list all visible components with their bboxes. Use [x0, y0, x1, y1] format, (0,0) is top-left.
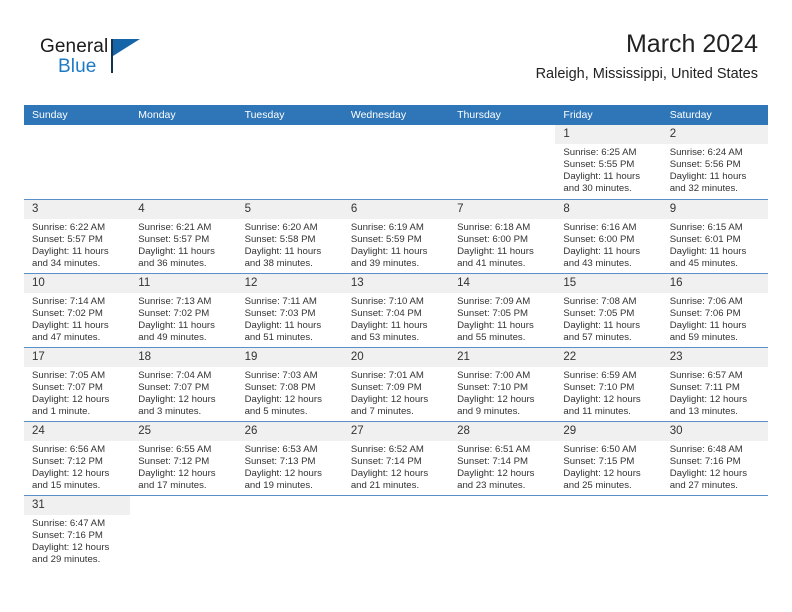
- sunrise-time: Sunrise: 7:10 AM: [351, 296, 445, 308]
- day-number: 16: [662, 274, 768, 293]
- calendar-day-cell[interactable]: 18Sunrise: 7:04 AMSunset: 7:07 PMDayligh…: [130, 347, 236, 421]
- day-cell-content: 22Sunrise: 6:59 AMSunset: 7:10 PMDayligh…: [555, 348, 661, 421]
- calendar-day-cell[interactable]: 16Sunrise: 7:06 AMSunset: 7:06 PMDayligh…: [662, 273, 768, 347]
- day-cell-content: 29Sunrise: 6:50 AMSunset: 7:15 PMDayligh…: [555, 422, 661, 495]
- daylight-duration-line1: Daylight: 11 hours: [351, 246, 445, 258]
- day-number: [555, 496, 661, 515]
- weekday-header-saturday: Saturday: [662, 105, 768, 125]
- sunset-time: Sunset: 5:57 PM: [32, 234, 126, 246]
- calendar-day-cell[interactable]: 8Sunrise: 6:16 AMSunset: 6:00 PMDaylight…: [555, 199, 661, 273]
- sunset-time: Sunset: 7:02 PM: [32, 308, 126, 320]
- day-cell-content: 16Sunrise: 7:06 AMSunset: 7:06 PMDayligh…: [662, 274, 768, 347]
- day-number: 20: [343, 348, 449, 367]
- daylight-duration-line2: and 3 minutes.: [138, 406, 232, 418]
- day-cell-content: 15Sunrise: 7:08 AMSunset: 7:05 PMDayligh…: [555, 274, 661, 347]
- daylight-duration-line2: and 5 minutes.: [245, 406, 339, 418]
- day-sun-info: Sunrise: 6:25 AMSunset: 5:55 PMDaylight:…: [555, 144, 661, 195]
- day-cell-content: [555, 496, 661, 570]
- sunset-time: Sunset: 7:03 PM: [245, 308, 339, 320]
- day-cell-content: [130, 496, 236, 570]
- calendar-day-cell[interactable]: 9Sunrise: 6:15 AMSunset: 6:01 PMDaylight…: [662, 199, 768, 273]
- day-cell-content: 28Sunrise: 6:51 AMSunset: 7:14 PMDayligh…: [449, 422, 555, 495]
- day-cell-content: 6Sunrise: 6:19 AMSunset: 5:59 PMDaylight…: [343, 200, 449, 273]
- daylight-duration-line2: and 29 minutes.: [32, 554, 126, 566]
- weekday-header-tuesday: Tuesday: [237, 105, 343, 125]
- day-cell-content: 24Sunrise: 6:56 AMSunset: 7:12 PMDayligh…: [24, 422, 130, 495]
- daylight-duration-line1: Daylight: 11 hours: [245, 246, 339, 258]
- calendar-day-cell[interactable]: 23Sunrise: 6:57 AMSunset: 7:11 PMDayligh…: [662, 347, 768, 421]
- day-sun-info: Sunrise: 7:08 AMSunset: 7:05 PMDaylight:…: [555, 293, 661, 344]
- day-cell-content: 4Sunrise: 6:21 AMSunset: 5:57 PMDaylight…: [130, 200, 236, 273]
- day-cell-content: [662, 496, 768, 570]
- day-number: [449, 125, 555, 144]
- sunrise-time: Sunrise: 7:08 AM: [563, 296, 657, 308]
- day-sun-info: Sunrise: 7:00 AMSunset: 7:10 PMDaylight:…: [449, 367, 555, 418]
- day-cell-content: 27Sunrise: 6:52 AMSunset: 7:14 PMDayligh…: [343, 422, 449, 495]
- day-number: 13: [343, 274, 449, 293]
- calendar-day-cell[interactable]: 14Sunrise: 7:09 AMSunset: 7:05 PMDayligh…: [449, 273, 555, 347]
- daylight-duration-line1: Daylight: 12 hours: [245, 394, 339, 406]
- day-number: 5: [237, 200, 343, 219]
- daylight-duration-line2: and 13 minutes.: [670, 406, 764, 418]
- calendar-day-cell: [24, 125, 130, 199]
- day-sun-info: Sunrise: 6:50 AMSunset: 7:15 PMDaylight:…: [555, 441, 661, 492]
- day-number: 29: [555, 422, 661, 441]
- daylight-duration-line1: Daylight: 11 hours: [32, 246, 126, 258]
- sunset-time: Sunset: 7:05 PM: [457, 308, 551, 320]
- sunset-time: Sunset: 7:10 PM: [563, 382, 657, 394]
- sunset-time: Sunset: 6:00 PM: [457, 234, 551, 246]
- daylight-duration-line1: Daylight: 11 hours: [32, 320, 126, 332]
- daylight-duration-line1: Daylight: 12 hours: [351, 394, 445, 406]
- sunrise-time: Sunrise: 7:13 AM: [138, 296, 232, 308]
- calendar-day-cell[interactable]: 20Sunrise: 7:01 AMSunset: 7:09 PMDayligh…: [343, 347, 449, 421]
- calendar-day-cell[interactable]: 30Sunrise: 6:48 AMSunset: 7:16 PMDayligh…: [662, 421, 768, 495]
- weekday-header-wednesday: Wednesday: [343, 105, 449, 125]
- day-number: 15: [555, 274, 661, 293]
- day-number: 17: [24, 348, 130, 367]
- calendar-week-row: 3Sunrise: 6:22 AMSunset: 5:57 PMDaylight…: [24, 199, 768, 273]
- weekday-header-monday: Monday: [130, 105, 236, 125]
- day-sun-info: Sunrise: 6:53 AMSunset: 7:13 PMDaylight:…: [237, 441, 343, 492]
- day-cell-content: 31Sunrise: 6:47 AMSunset: 7:16 PMDayligh…: [24, 496, 130, 570]
- day-number: 31: [24, 496, 130, 515]
- calendar-day-cell[interactable]: 27Sunrise: 6:52 AMSunset: 7:14 PMDayligh…: [343, 421, 449, 495]
- day-cell-content: 1Sunrise: 6:25 AMSunset: 5:55 PMDaylight…: [555, 125, 661, 199]
- daylight-duration-line1: Daylight: 12 hours: [457, 468, 551, 480]
- daylight-duration-line2: and 23 minutes.: [457, 480, 551, 492]
- sunset-time: Sunset: 7:12 PM: [32, 456, 126, 468]
- title-block: March 2024 Raleigh, Mississippi, United …: [536, 28, 758, 85]
- daylight-duration-line1: Daylight: 11 hours: [351, 320, 445, 332]
- daylight-duration-line1: Daylight: 12 hours: [563, 468, 657, 480]
- sunrise-time: Sunrise: 6:22 AM: [32, 222, 126, 234]
- day-cell-content: [130, 125, 236, 199]
- day-sun-info: Sunrise: 6:57 AMSunset: 7:11 PMDaylight:…: [662, 367, 768, 418]
- daylight-duration-line1: Daylight: 11 hours: [457, 320, 551, 332]
- sunrise-time: Sunrise: 6:20 AM: [245, 222, 339, 234]
- day-number: [449, 496, 555, 515]
- day-number: [130, 496, 236, 515]
- day-sun-info: Sunrise: 6:51 AMSunset: 7:14 PMDaylight:…: [449, 441, 555, 492]
- day-cell-content: 9Sunrise: 6:15 AMSunset: 6:01 PMDaylight…: [662, 200, 768, 273]
- daylight-duration-line1: Daylight: 11 hours: [670, 171, 764, 183]
- daylight-duration-line1: Daylight: 12 hours: [138, 468, 232, 480]
- day-sun-info: Sunrise: 6:55 AMSunset: 7:12 PMDaylight:…: [130, 441, 236, 492]
- day-number: 25: [130, 422, 236, 441]
- daylight-duration-line2: and 41 minutes.: [457, 258, 551, 270]
- sunrise-time: Sunrise: 6:52 AM: [351, 444, 445, 456]
- day-number: 21: [449, 348, 555, 367]
- day-number: 8: [555, 200, 661, 219]
- calendar-day-cell: [130, 125, 236, 199]
- daylight-duration-line2: and 25 minutes.: [563, 480, 657, 492]
- calendar-day-cell[interactable]: 29Sunrise: 6:50 AMSunset: 7:15 PMDayligh…: [555, 421, 661, 495]
- daylight-duration-line2: and 45 minutes.: [670, 258, 764, 270]
- calendar-day-cell: [130, 495, 236, 569]
- calendar-day-cell[interactable]: 17Sunrise: 7:05 AMSunset: 7:07 PMDayligh…: [24, 347, 130, 421]
- day-cell-content: [24, 125, 130, 199]
- brand-name-blue: Blue: [58, 56, 96, 78]
- day-number: 3: [24, 200, 130, 219]
- day-sun-info: Sunrise: 6:52 AMSunset: 7:14 PMDaylight:…: [343, 441, 449, 492]
- calendar-day-cell[interactable]: 19Sunrise: 7:03 AMSunset: 7:08 PMDayligh…: [237, 347, 343, 421]
- day-number: 14: [449, 274, 555, 293]
- day-number: [662, 496, 768, 515]
- day-sun-info: Sunrise: 6:48 AMSunset: 7:16 PMDaylight:…: [662, 441, 768, 492]
- calendar-week-row: 17Sunrise: 7:05 AMSunset: 7:07 PMDayligh…: [24, 347, 768, 421]
- day-cell-content: 3Sunrise: 6:22 AMSunset: 5:57 PMDaylight…: [24, 200, 130, 273]
- calendar-day-cell: [449, 495, 555, 569]
- sunset-time: Sunset: 7:07 PM: [32, 382, 126, 394]
- sunrise-time: Sunrise: 6:25 AM: [563, 147, 657, 159]
- calendar-day-cell[interactable]: 13Sunrise: 7:10 AMSunset: 7:04 PMDayligh…: [343, 273, 449, 347]
- day-cell-content: 17Sunrise: 7:05 AMSunset: 7:07 PMDayligh…: [24, 348, 130, 421]
- sunset-time: Sunset: 5:59 PM: [351, 234, 445, 246]
- day-number: 27: [343, 422, 449, 441]
- day-sun-info: Sunrise: 7:03 AMSunset: 7:08 PMDaylight:…: [237, 367, 343, 418]
- weekday-header-sunday: Sunday: [24, 105, 130, 125]
- sunrise-time: Sunrise: 7:04 AM: [138, 370, 232, 382]
- calendar-day-cell: [237, 495, 343, 569]
- daylight-duration-line2: and 38 minutes.: [245, 258, 339, 270]
- day-cell-content: 11Sunrise: 7:13 AMSunset: 7:02 PMDayligh…: [130, 274, 236, 347]
- sunrise-time: Sunrise: 7:11 AM: [245, 296, 339, 308]
- brand-logo[interactable]: General Blue: [40, 36, 170, 88]
- day-sun-info: Sunrise: 7:10 AMSunset: 7:04 PMDaylight:…: [343, 293, 449, 344]
- sunrise-time: Sunrise: 7:00 AM: [457, 370, 551, 382]
- sunrise-time: Sunrise: 7:06 AM: [670, 296, 764, 308]
- day-number: 4: [130, 200, 236, 219]
- daylight-duration-line2: and 21 minutes.: [351, 480, 445, 492]
- sunset-time: Sunset: 7:08 PM: [245, 382, 339, 394]
- day-sun-info: Sunrise: 6:47 AMSunset: 7:16 PMDaylight:…: [24, 515, 130, 566]
- day-cell-content: 12Sunrise: 7:11 AMSunset: 7:03 PMDayligh…: [237, 274, 343, 347]
- day-cell-content: [449, 496, 555, 570]
- calendar-week-row: 10Sunrise: 7:14 AMSunset: 7:02 PMDayligh…: [24, 273, 768, 347]
- daylight-duration-line1: Daylight: 11 hours: [138, 246, 232, 258]
- sunrise-time: Sunrise: 6:18 AM: [457, 222, 551, 234]
- sunset-time: Sunset: 7:14 PM: [457, 456, 551, 468]
- sunrise-time: Sunrise: 6:50 AM: [563, 444, 657, 456]
- daylight-duration-line1: Daylight: 12 hours: [563, 394, 657, 406]
- daylight-duration-line2: and 47 minutes.: [32, 332, 126, 344]
- daylight-duration-line1: Daylight: 12 hours: [457, 394, 551, 406]
- day-number: 19: [237, 348, 343, 367]
- daylight-duration-line1: Daylight: 11 hours: [138, 320, 232, 332]
- daylight-duration-line2: and 9 minutes.: [457, 406, 551, 418]
- daylight-duration-line2: and 17 minutes.: [138, 480, 232, 492]
- sunset-time: Sunset: 7:16 PM: [32, 530, 126, 542]
- daylight-duration-line2: and 59 minutes.: [670, 332, 764, 344]
- calendar-day-cell[interactable]: 26Sunrise: 6:53 AMSunset: 7:13 PMDayligh…: [237, 421, 343, 495]
- sunrise-sunset-calendar: Sunday Monday Tuesday Wednesday Thursday…: [24, 105, 768, 569]
- location-subtitle: Raleigh, Mississippi, United States: [536, 63, 758, 85]
- day-sun-info: Sunrise: 7:11 AMSunset: 7:03 PMDaylight:…: [237, 293, 343, 344]
- day-sun-info: Sunrise: 6:15 AMSunset: 6:01 PMDaylight:…: [662, 219, 768, 270]
- day-sun-info: Sunrise: 6:16 AMSunset: 6:00 PMDaylight:…: [555, 219, 661, 270]
- sunset-time: Sunset: 5:58 PM: [245, 234, 339, 246]
- sunrise-time: Sunrise: 6:56 AM: [32, 444, 126, 456]
- calendar-day-cell: [343, 125, 449, 199]
- daylight-duration-line1: Daylight: 11 hours: [670, 320, 764, 332]
- sunset-time: Sunset: 7:15 PM: [563, 456, 657, 468]
- calendar-day-cell: [555, 495, 661, 569]
- daylight-duration-line2: and 27 minutes.: [670, 480, 764, 492]
- calendar-day-cell[interactable]: 24Sunrise: 6:56 AMSunset: 7:12 PMDayligh…: [24, 421, 130, 495]
- calendar-day-cell: [662, 495, 768, 569]
- sunset-time: Sunset: 7:09 PM: [351, 382, 445, 394]
- day-cell-content: 5Sunrise: 6:20 AMSunset: 5:58 PMDaylight…: [237, 200, 343, 273]
- calendar-week-row: 24Sunrise: 6:56 AMSunset: 7:12 PMDayligh…: [24, 421, 768, 495]
- calendar-day-cell[interactable]: 6Sunrise: 6:19 AMSunset: 5:59 PMDaylight…: [343, 199, 449, 273]
- sunrise-time: Sunrise: 6:51 AM: [457, 444, 551, 456]
- day-cell-content: 25Sunrise: 6:55 AMSunset: 7:12 PMDayligh…: [130, 422, 236, 495]
- day-number: 7: [449, 200, 555, 219]
- blue-flag-icon: [113, 39, 140, 56]
- calendar-day-cell: [343, 495, 449, 569]
- daylight-duration-line2: and 1 minute.: [32, 406, 126, 418]
- daylight-duration-line1: Daylight: 12 hours: [351, 468, 445, 480]
- calendar-day-cell: [449, 125, 555, 199]
- day-cell-content: 23Sunrise: 6:57 AMSunset: 7:11 PMDayligh…: [662, 348, 768, 421]
- day-cell-content: [237, 125, 343, 199]
- daylight-duration-line2: and 53 minutes.: [351, 332, 445, 344]
- calendar-day-cell[interactable]: 2Sunrise: 6:24 AMSunset: 5:56 PMDaylight…: [662, 125, 768, 199]
- day-number: 28: [449, 422, 555, 441]
- calendar-day-cell[interactable]: 10Sunrise: 7:14 AMSunset: 7:02 PMDayligh…: [24, 273, 130, 347]
- day-number: 1: [555, 125, 661, 144]
- day-cell-content: [449, 125, 555, 199]
- daylight-duration-line2: and 55 minutes.: [457, 332, 551, 344]
- day-number: 22: [555, 348, 661, 367]
- day-cell-content: [343, 496, 449, 570]
- day-number: [343, 125, 449, 144]
- daylight-duration-line2: and 43 minutes.: [563, 258, 657, 270]
- day-sun-info: Sunrise: 7:06 AMSunset: 7:06 PMDaylight:…: [662, 293, 768, 344]
- calendar-day-cell[interactable]: 5Sunrise: 6:20 AMSunset: 5:58 PMDaylight…: [237, 199, 343, 273]
- calendar-day-cell[interactable]: 15Sunrise: 7:08 AMSunset: 7:05 PMDayligh…: [555, 273, 661, 347]
- day-sun-info: Sunrise: 6:56 AMSunset: 7:12 PMDaylight:…: [24, 441, 130, 492]
- sunrise-time: Sunrise: 6:47 AM: [32, 518, 126, 530]
- calendar-header-row: Sunday Monday Tuesday Wednesday Thursday…: [24, 105, 768, 125]
- day-sun-info: Sunrise: 6:19 AMSunset: 5:59 PMDaylight:…: [343, 219, 449, 270]
- daylight-duration-line1: Daylight: 11 hours: [245, 320, 339, 332]
- sunset-time: Sunset: 5:57 PM: [138, 234, 232, 246]
- daylight-duration-line1: Daylight: 12 hours: [32, 394, 126, 406]
- sunset-time: Sunset: 5:55 PM: [563, 159, 657, 171]
- day-number: 6: [343, 200, 449, 219]
- sunrise-time: Sunrise: 6:48 AM: [670, 444, 764, 456]
- calendar-day-cell[interactable]: 1Sunrise: 6:25 AMSunset: 5:55 PMDaylight…: [555, 125, 661, 199]
- day-number: 18: [130, 348, 236, 367]
- sunrise-time: Sunrise: 6:16 AM: [563, 222, 657, 234]
- day-number: 11: [130, 274, 236, 293]
- day-sun-info: Sunrise: 6:21 AMSunset: 5:57 PMDaylight:…: [130, 219, 236, 270]
- day-cell-content: 19Sunrise: 7:03 AMSunset: 7:08 PMDayligh…: [237, 348, 343, 421]
- daylight-duration-line1: Daylight: 11 hours: [457, 246, 551, 258]
- calendar-page: General Blue March 2024 Raleigh, Mississ…: [0, 0, 792, 612]
- day-number: [130, 125, 236, 144]
- weekday-header-thursday: Thursday: [449, 105, 555, 125]
- daylight-duration-line1: Daylight: 11 hours: [563, 246, 657, 258]
- day-cell-content: 13Sunrise: 7:10 AMSunset: 7:04 PMDayligh…: [343, 274, 449, 347]
- day-number: [237, 125, 343, 144]
- sunset-time: Sunset: 7:12 PM: [138, 456, 232, 468]
- day-cell-content: 7Sunrise: 6:18 AMSunset: 6:00 PMDaylight…: [449, 200, 555, 273]
- sunset-time: Sunset: 7:14 PM: [351, 456, 445, 468]
- calendar-day-cell[interactable]: 21Sunrise: 7:00 AMSunset: 7:10 PMDayligh…: [449, 347, 555, 421]
- daylight-duration-line1: Daylight: 11 hours: [563, 171, 657, 183]
- daylight-duration-line2: and 39 minutes.: [351, 258, 445, 270]
- day-cell-content: [237, 496, 343, 570]
- calendar-day-cell[interactable]: 28Sunrise: 6:51 AMSunset: 7:14 PMDayligh…: [449, 421, 555, 495]
- sunrise-time: Sunrise: 6:55 AM: [138, 444, 232, 456]
- day-cell-content: 10Sunrise: 7:14 AMSunset: 7:02 PMDayligh…: [24, 274, 130, 347]
- daylight-duration-line1: Daylight: 12 hours: [138, 394, 232, 406]
- day-sun-info: Sunrise: 7:09 AMSunset: 7:05 PMDaylight:…: [449, 293, 555, 344]
- sunset-time: Sunset: 7:13 PM: [245, 456, 339, 468]
- sunrise-time: Sunrise: 7:14 AM: [32, 296, 126, 308]
- sunrise-time: Sunrise: 7:03 AM: [245, 370, 339, 382]
- calendar-day-cell[interactable]: 22Sunrise: 6:59 AMSunset: 7:10 PMDayligh…: [555, 347, 661, 421]
- day-number: 24: [24, 422, 130, 441]
- day-number: [343, 496, 449, 515]
- day-number: 23: [662, 348, 768, 367]
- daylight-duration-line2: and 11 minutes.: [563, 406, 657, 418]
- sunset-time: Sunset: 6:00 PM: [563, 234, 657, 246]
- daylight-duration-line1: Daylight: 12 hours: [670, 394, 764, 406]
- calendar-day-cell[interactable]: 31Sunrise: 6:47 AMSunset: 7:16 PMDayligh…: [24, 495, 130, 569]
- daylight-duration-line2: and 32 minutes.: [670, 183, 764, 195]
- day-number: 9: [662, 200, 768, 219]
- daylight-duration-line1: Daylight: 12 hours: [245, 468, 339, 480]
- daylight-duration-line2: and 7 minutes.: [351, 406, 445, 418]
- daylight-duration-line1: Daylight: 12 hours: [32, 468, 126, 480]
- sunset-time: Sunset: 6:01 PM: [670, 234, 764, 246]
- calendar-day-cell: [237, 125, 343, 199]
- daylight-duration-line1: Daylight: 11 hours: [563, 320, 657, 332]
- daylight-duration-line2: and 19 minutes.: [245, 480, 339, 492]
- day-sun-info: Sunrise: 7:01 AMSunset: 7:09 PMDaylight:…: [343, 367, 449, 418]
- page-title: March 2024: [536, 28, 758, 60]
- calendar-day-cell[interactable]: 25Sunrise: 6:55 AMSunset: 7:12 PMDayligh…: [130, 421, 236, 495]
- sunset-time: Sunset: 7:10 PM: [457, 382, 551, 394]
- day-number: 2: [662, 125, 768, 144]
- sunset-time: Sunset: 7:07 PM: [138, 382, 232, 394]
- calendar-day-cell[interactable]: 12Sunrise: 7:11 AMSunset: 7:03 PMDayligh…: [237, 273, 343, 347]
- calendar-day-cell[interactable]: 11Sunrise: 7:13 AMSunset: 7:02 PMDayligh…: [130, 273, 236, 347]
- day-cell-content: 14Sunrise: 7:09 AMSunset: 7:05 PMDayligh…: [449, 274, 555, 347]
- daylight-duration-line2: and 49 minutes.: [138, 332, 232, 344]
- calendar-day-cell[interactable]: 3Sunrise: 6:22 AMSunset: 5:57 PMDaylight…: [24, 199, 130, 273]
- day-sun-info: Sunrise: 6:22 AMSunset: 5:57 PMDaylight:…: [24, 219, 130, 270]
- weekday-header-friday: Friday: [555, 105, 661, 125]
- sunset-time: Sunset: 5:56 PM: [670, 159, 764, 171]
- brand-name-general: General: [40, 36, 108, 58]
- daylight-duration-line2: and 36 minutes.: [138, 258, 232, 270]
- sunrise-time: Sunrise: 6:24 AM: [670, 147, 764, 159]
- page-header: General Blue March 2024 Raleigh, Mississ…: [24, 28, 758, 96]
- sunrise-time: Sunrise: 6:19 AM: [351, 222, 445, 234]
- day-number: 10: [24, 274, 130, 293]
- sunset-time: Sunset: 7:16 PM: [670, 456, 764, 468]
- calendar-week-row: 31Sunrise: 6:47 AMSunset: 7:16 PMDayligh…: [24, 495, 768, 569]
- sunset-time: Sunset: 7:11 PM: [670, 382, 764, 394]
- day-sun-info: Sunrise: 7:14 AMSunset: 7:02 PMDaylight:…: [24, 293, 130, 344]
- sunrise-time: Sunrise: 6:57 AM: [670, 370, 764, 382]
- day-sun-info: Sunrise: 6:20 AMSunset: 5:58 PMDaylight:…: [237, 219, 343, 270]
- day-sun-info: Sunrise: 6:24 AMSunset: 5:56 PMDaylight:…: [662, 144, 768, 195]
- sunrise-time: Sunrise: 6:21 AM: [138, 222, 232, 234]
- day-cell-content: [343, 125, 449, 199]
- daylight-duration-line2: and 51 minutes.: [245, 332, 339, 344]
- day-cell-content: 2Sunrise: 6:24 AMSunset: 5:56 PMDaylight…: [662, 125, 768, 199]
- calendar-body: 1Sunrise: 6:25 AMSunset: 5:55 PMDaylight…: [24, 125, 768, 569]
- day-cell-content: 20Sunrise: 7:01 AMSunset: 7:09 PMDayligh…: [343, 348, 449, 421]
- daylight-duration-line2: and 15 minutes.: [32, 480, 126, 492]
- day-cell-content: 8Sunrise: 6:16 AMSunset: 6:00 PMDaylight…: [555, 200, 661, 273]
- calendar-week-row: 1Sunrise: 6:25 AMSunset: 5:55 PMDaylight…: [24, 125, 768, 199]
- day-cell-content: 30Sunrise: 6:48 AMSunset: 7:16 PMDayligh…: [662, 422, 768, 495]
- day-number: 12: [237, 274, 343, 293]
- day-sun-info: Sunrise: 6:18 AMSunset: 6:00 PMDaylight:…: [449, 219, 555, 270]
- sunrise-time: Sunrise: 7:01 AM: [351, 370, 445, 382]
- calendar-day-cell[interactable]: 7Sunrise: 6:18 AMSunset: 6:00 PMDaylight…: [449, 199, 555, 273]
- sunrise-time: Sunrise: 7:09 AM: [457, 296, 551, 308]
- sunrise-time: Sunrise: 7:05 AM: [32, 370, 126, 382]
- day-sun-info: Sunrise: 7:05 AMSunset: 7:07 PMDaylight:…: [24, 367, 130, 418]
- daylight-duration-line1: Daylight: 12 hours: [32, 542, 126, 554]
- calendar-day-cell[interactable]: 4Sunrise: 6:21 AMSunset: 5:57 PMDaylight…: [130, 199, 236, 273]
- daylight-duration-line2: and 34 minutes.: [32, 258, 126, 270]
- sunset-time: Sunset: 7:05 PM: [563, 308, 657, 320]
- day-sun-info: Sunrise: 6:59 AMSunset: 7:10 PMDaylight:…: [555, 367, 661, 418]
- daylight-duration-line1: Daylight: 12 hours: [670, 468, 764, 480]
- sunrise-time: Sunrise: 6:53 AM: [245, 444, 339, 456]
- daylight-duration-line2: and 57 minutes.: [563, 332, 657, 344]
- day-number: 30: [662, 422, 768, 441]
- sunset-time: Sunset: 7:04 PM: [351, 308, 445, 320]
- sunset-time: Sunset: 7:02 PM: [138, 308, 232, 320]
- day-number: 26: [237, 422, 343, 441]
- day-number: [24, 125, 130, 144]
- sunrise-time: Sunrise: 6:15 AM: [670, 222, 764, 234]
- day-sun-info: Sunrise: 7:13 AMSunset: 7:02 PMDaylight:…: [130, 293, 236, 344]
- day-cell-content: 21Sunrise: 7:00 AMSunset: 7:10 PMDayligh…: [449, 348, 555, 421]
- sunrise-time: Sunrise: 6:59 AM: [563, 370, 657, 382]
- daylight-duration-line2: and 30 minutes.: [563, 183, 657, 195]
